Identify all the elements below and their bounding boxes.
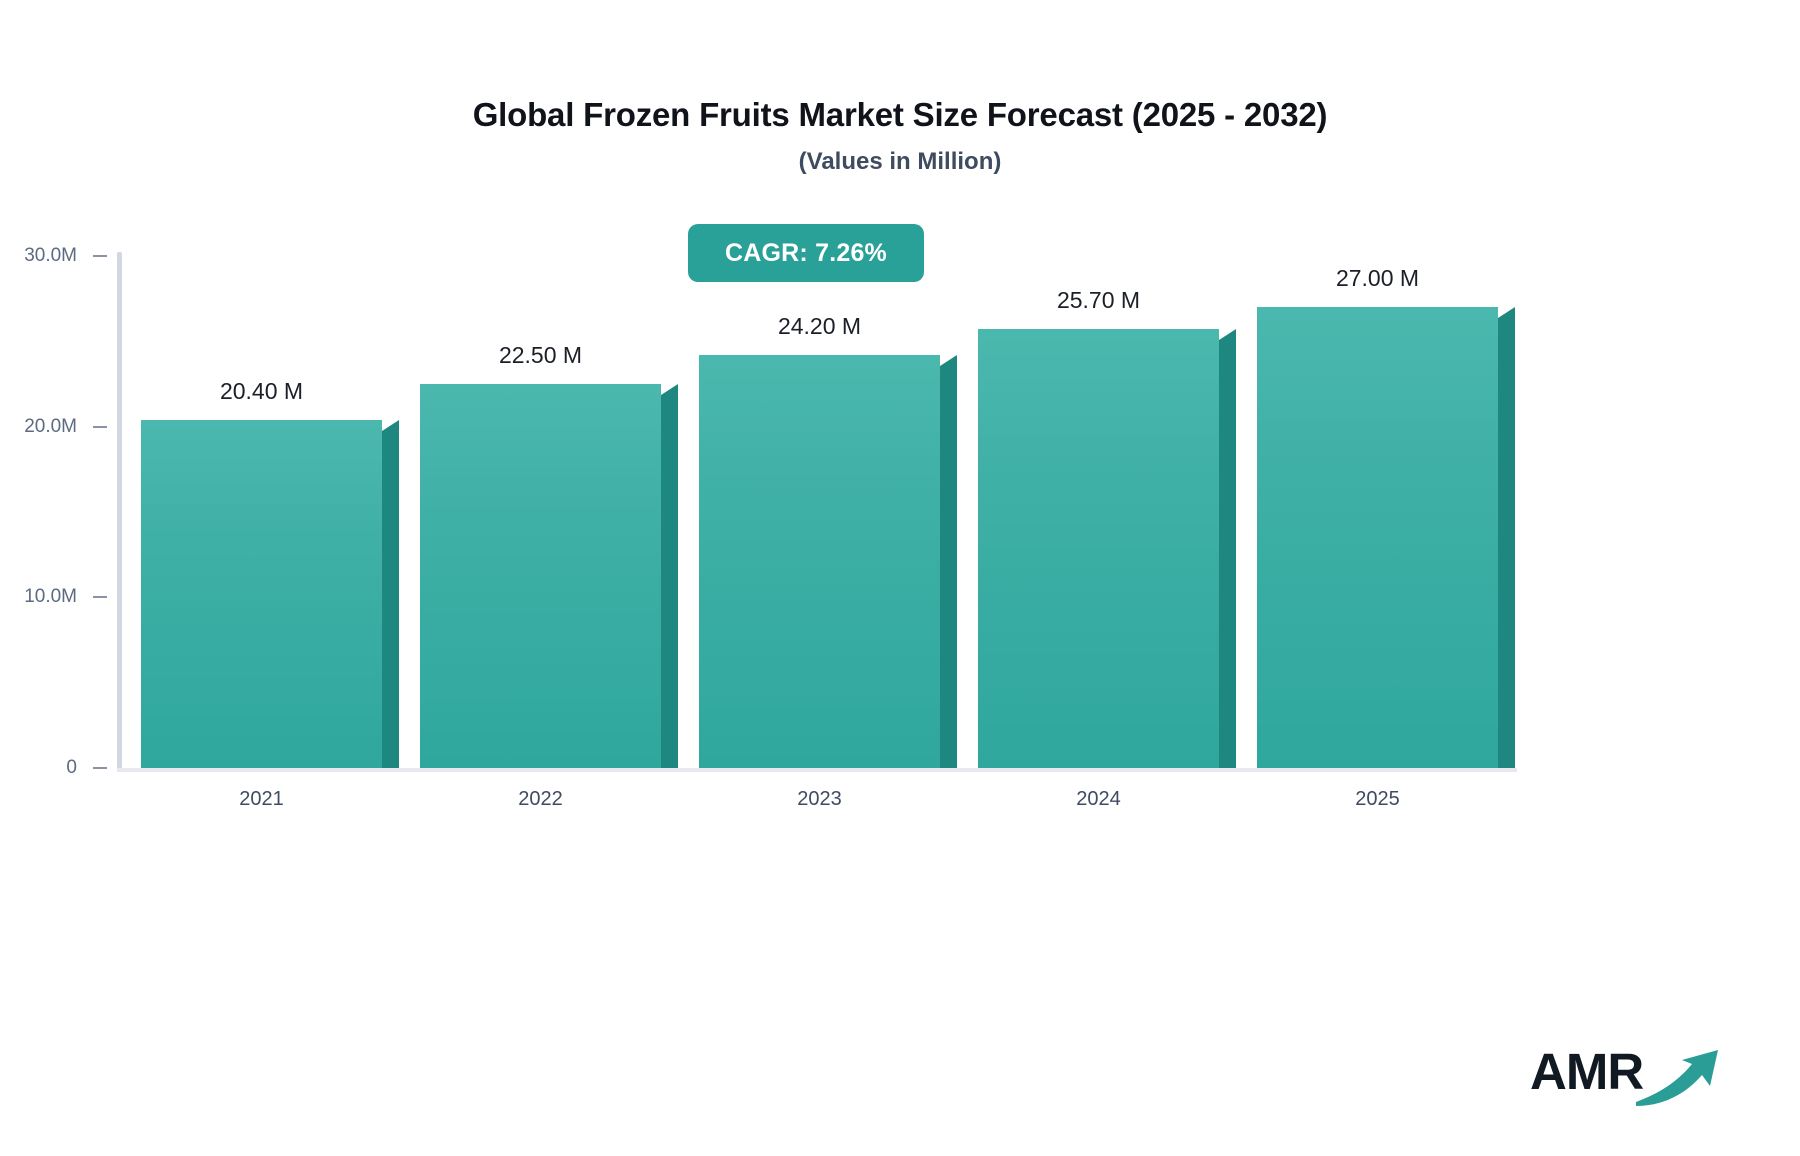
x-axis-tick-2021: 2021	[239, 788, 284, 811]
bar-2024[interactable]	[978, 329, 1219, 768]
x-axis-line	[117, 768, 1517, 772]
bar-side-bevel	[661, 384, 678, 395]
bar-side-bevel	[382, 420, 399, 431]
bar-side-bevel	[940, 355, 957, 366]
y-axis-tick-mark	[93, 255, 107, 257]
y-axis-tick: 10.0M	[24, 586, 117, 608]
bar-side-face	[940, 366, 957, 768]
x-axis-tick-2022: 2022	[518, 788, 563, 811]
bar-side-face	[1219, 340, 1236, 768]
y-axis-line	[117, 252, 122, 770]
chart-title: Global Frozen Fruits Market Size Forecas…	[0, 96, 1800, 134]
bar-2021[interactable]	[141, 420, 382, 768]
bar-side-bevel	[1498, 307, 1515, 318]
y-axis-tick-mark	[93, 767, 107, 769]
y-axis-tick: 30.0M	[24, 245, 117, 267]
bar-side-face	[1498, 318, 1515, 768]
x-axis-tick-2023: 2023	[797, 788, 842, 811]
y-axis-ticks: 010.0M20.0M30.0M	[0, 0, 117, 1156]
bar-value-label: 22.50 M	[499, 342, 582, 369]
trending-up-arrow-icon	[1634, 1046, 1724, 1108]
x-axis-tick-2024: 2024	[1076, 788, 1121, 811]
y-axis-tick: 0	[66, 757, 117, 779]
bar-value-label: 25.70 M	[1057, 287, 1140, 314]
amr-logo: AMR	[1530, 1040, 1720, 1112]
bar-value-label: 20.40 M	[220, 378, 303, 405]
bar-side-bevel	[1219, 329, 1236, 340]
bar-side-face	[661, 395, 678, 768]
bar-2025[interactable]	[1257, 307, 1498, 768]
y-axis-tick-mark	[93, 596, 107, 598]
bar-value-label: 27.00 M	[1336, 265, 1419, 292]
y-axis-tick: 20.0M	[24, 416, 117, 438]
cagr-badge: CAGR: 7.26%	[688, 224, 924, 282]
x-axis-tick-2025: 2025	[1355, 788, 1400, 811]
bar-2023[interactable]	[699, 355, 940, 768]
chart-canvas: Global Frozen Fruits Market Size Forecas…	[0, 0, 1800, 1156]
logo-text: AMR	[1530, 1042, 1643, 1101]
cagr-badge-label: CAGR: 7.26%	[725, 239, 887, 268]
bar-side-face	[382, 431, 399, 768]
chart-subtitle: (Values in Million)	[0, 148, 1800, 176]
y-axis-tick-mark	[93, 426, 107, 428]
bar-2022[interactable]	[420, 384, 661, 768]
bar-value-label: 24.20 M	[778, 313, 861, 340]
